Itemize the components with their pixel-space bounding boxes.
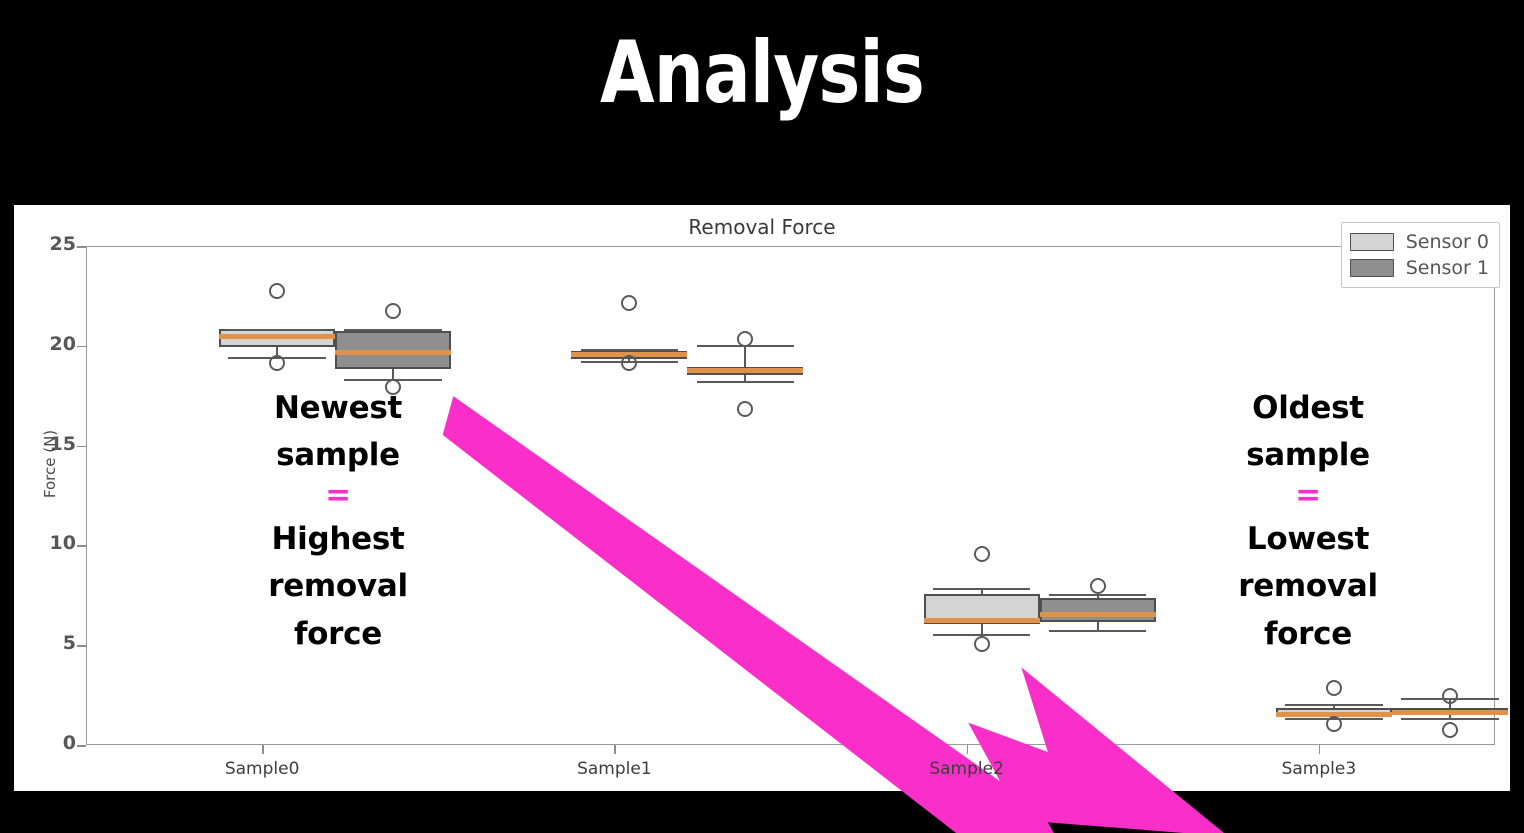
legend-item: Sensor 1 — [1350, 255, 1489, 281]
x-axis-tick-label: Sample1 — [524, 759, 704, 779]
boxplot-outlier-marker — [1326, 716, 1342, 732]
boxplot-median-line — [1040, 612, 1156, 617]
boxplot-outlier-marker — [621, 295, 637, 311]
y-axis-tick-mark — [77, 545, 86, 547]
x-axis-tick-label: Sample3 — [1229, 759, 1409, 779]
boxplot-outlier-marker — [974, 546, 990, 562]
boxplot-outlier-marker — [621, 355, 637, 371]
annotation-oldest-sample: Oldest sample = Lowest removal force — [1192, 385, 1424, 658]
x-axis-tick-label: Sample0 — [172, 759, 352, 779]
boxplot-outlier-marker — [1090, 578, 1106, 594]
y-axis-tick-mark — [77, 246, 86, 248]
title-band: Analysis — [0, 0, 1524, 200]
equals-sign-icon: = — [222, 482, 454, 510]
annotation-right-line4: removal — [1238, 568, 1378, 604]
boxplot-outlier-marker — [737, 401, 753, 417]
legend-label: Sensor 1 — [1406, 257, 1489, 279]
page-title: Analysis — [137, 30, 1387, 116]
boxplot-outlier-marker — [974, 636, 990, 652]
y-axis-tick-mark — [77, 446, 86, 448]
equals-sign-icon: = — [1192, 482, 1424, 510]
annotation-left-line3: Highest — [271, 521, 404, 557]
boxplot-median-line — [687, 368, 803, 373]
y-axis-label: Force (N) — [41, 384, 59, 544]
boxplot-box — [1040, 598, 1156, 622]
boxplot-whisker-cap — [581, 349, 678, 351]
boxplot-outlier-marker — [269, 355, 285, 371]
boxplot-whisker-cap — [1049, 630, 1146, 632]
legend: Sensor 0Sensor 1 — [1341, 222, 1500, 288]
boxplot-whisker-cap — [344, 329, 441, 331]
y-axis-tick-label: 25 — [30, 233, 76, 255]
slide-root: Analysis Removal Force Force (N) Sensor … — [0, 0, 1524, 804]
x-axis-tick-mark — [614, 745, 616, 754]
x-axis-tick-mark — [1319, 745, 1321, 754]
y-axis-tick-label: 0 — [30, 732, 76, 754]
x-axis-tick-mark — [262, 745, 264, 754]
boxplot-median-line — [335, 350, 451, 355]
x-axis-tick-mark — [967, 745, 969, 754]
boxplot-whisker — [744, 345, 746, 367]
chart-figure: Removal Force Force (N) Sensor 0Sensor 1… — [14, 205, 1510, 791]
annotation-left-line1: Newest — [274, 390, 402, 426]
legend-swatch-icon — [1350, 259, 1394, 277]
y-axis-tick-label: 20 — [30, 333, 76, 355]
boxplot-outlier-marker — [1442, 688, 1458, 704]
annotation-left-line4: removal — [268, 568, 408, 604]
boxplot-whisker-cap — [228, 329, 325, 331]
boxplot-whisker-cap — [697, 381, 794, 383]
annotation-right-line3: Lowest — [1247, 521, 1369, 557]
boxplot-whisker — [981, 624, 983, 634]
boxplot-whisker-cap — [933, 588, 1030, 590]
boxplot-whisker — [392, 369, 394, 379]
boxplot-median-line — [219, 334, 335, 339]
legend-swatch-icon — [1350, 233, 1394, 251]
legend-label: Sensor 0 — [1406, 231, 1489, 253]
boxplot-outlier-marker — [385, 303, 401, 319]
annotation-left-line5: force — [294, 616, 382, 652]
y-axis-tick-label: 10 — [30, 532, 76, 554]
boxplot-outlier-marker — [269, 283, 285, 299]
y-axis-tick-mark — [77, 645, 86, 647]
annotation-right-line1: Oldest — [1252, 390, 1364, 426]
y-axis-tick-mark — [77, 745, 86, 747]
annotation-left-line2: sample — [276, 437, 400, 473]
y-axis-tick-mark — [77, 346, 86, 348]
boxplot-whisker-cap — [1285, 704, 1382, 706]
x-axis-tick-label: Sample2 — [877, 759, 1057, 779]
boxplot-whisker — [1097, 622, 1099, 630]
boxplot-whisker-cap — [1401, 718, 1498, 720]
annotation-right-line5: force — [1264, 616, 1352, 652]
boxplot-median-line — [924, 618, 1040, 623]
legend-item: Sensor 0 — [1350, 229, 1489, 255]
boxplot-median-line — [1392, 710, 1508, 715]
boxplot-outlier-marker — [1326, 680, 1342, 696]
boxplot-whisker-cap — [1049, 594, 1146, 596]
annotation-newest-sample: Newest sample = Highest removal force — [222, 385, 454, 658]
chart-title: Removal Force — [14, 215, 1510, 239]
y-axis-tick-label: 15 — [30, 433, 76, 455]
annotation-right-line2: sample — [1246, 437, 1370, 473]
boxplot-outlier-marker — [1442, 722, 1458, 738]
y-axis-tick-label: 5 — [30, 632, 76, 654]
